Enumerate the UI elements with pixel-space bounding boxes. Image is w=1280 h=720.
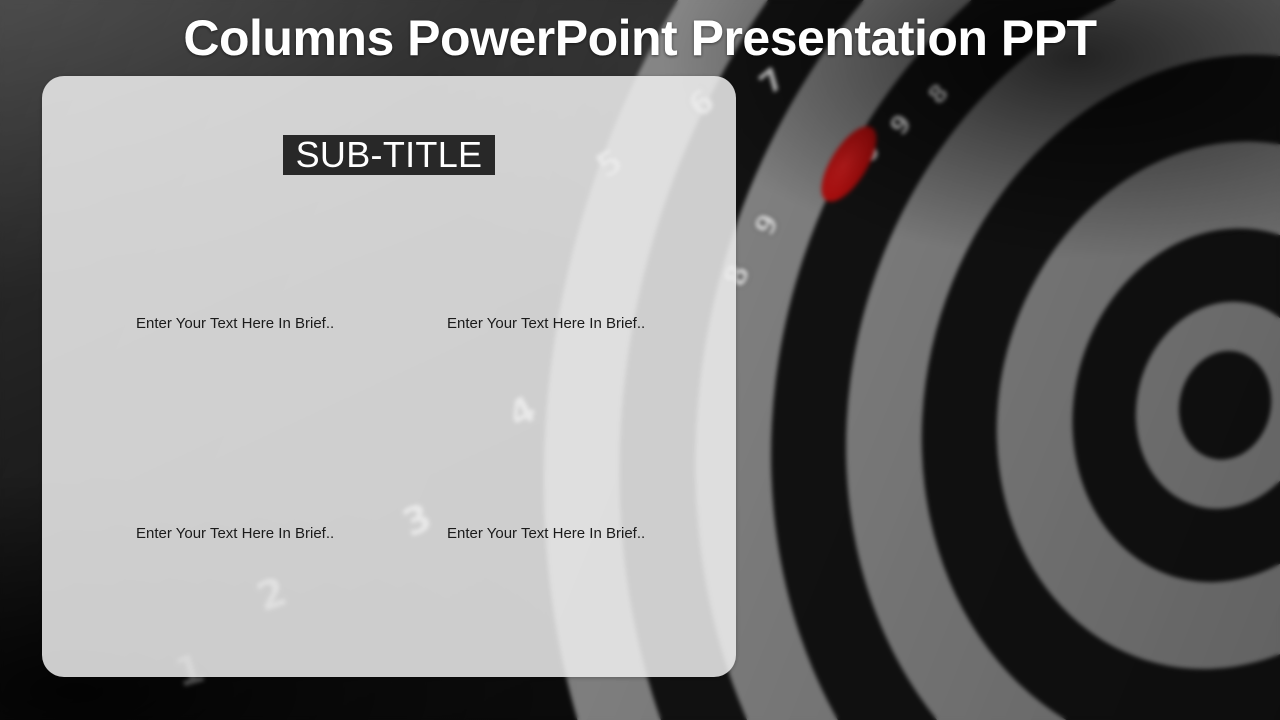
columns-row-2: Enter Your Text Here In Brief.. Enter Yo…	[92, 524, 702, 544]
column-cell-1: Enter Your Text Here In Brief..	[92, 314, 397, 334]
column-text-4: Enter Your Text Here In Brief..	[397, 524, 702, 544]
column-cell-2: Enter Your Text Here In Brief..	[397, 314, 702, 334]
page-title: Columns PowerPoint Presentation PPT	[0, 8, 1280, 68]
content-card-inner: SUB-TITLE Enter Your Text Here In Brief.…	[42, 76, 736, 677]
column-cell-3: Enter Your Text Here In Brief..	[92, 524, 397, 544]
column-text-3: Enter Your Text Here In Brief..	[92, 524, 397, 544]
columns-row-1: Enter Your Text Here In Brief.. Enter Yo…	[92, 314, 702, 334]
content-card: SUB-TITLE Enter Your Text Here In Brief.…	[42, 76, 736, 677]
subtitle-row: SUB-TITLE	[42, 135, 736, 175]
subtitle-badge: SUB-TITLE	[283, 135, 496, 175]
column-cell-4: Enter Your Text Here In Brief..	[397, 524, 702, 544]
column-text-2: Enter Your Text Here In Brief..	[397, 314, 702, 334]
slide: 8 9 0 9 8 7 6 5 4 3 2 1 Columns PowerPoi…	[0, 0, 1280, 720]
columns-grid: Enter Your Text Here In Brief.. Enter Yo…	[92, 236, 702, 636]
column-text-1: Enter Your Text Here In Brief..	[92, 314, 397, 334]
